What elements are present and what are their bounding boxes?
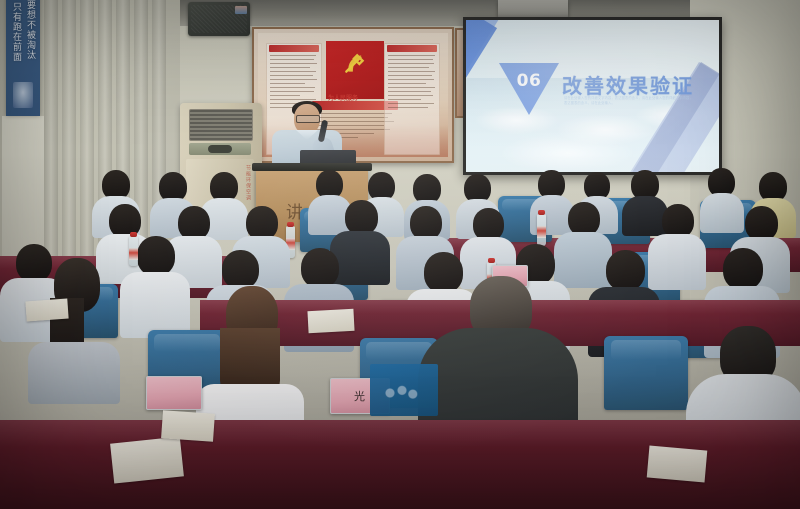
banner-line-2: 只有跑在前面 bbox=[11, 2, 22, 62]
wall-speaker-icon bbox=[188, 2, 250, 36]
attendee-head bbox=[137, 236, 175, 276]
poster-right-text bbox=[388, 55, 436, 111]
water-bottle bbox=[129, 236, 138, 266]
handout-paper bbox=[307, 309, 354, 333]
wall-column-strip bbox=[80, 0, 94, 300]
slide-haze bbox=[466, 20, 719, 172]
attendee-head bbox=[568, 202, 600, 236]
ac-display bbox=[208, 145, 232, 153]
banner-line-1: 要想不被淘汰 bbox=[25, 0, 36, 60]
board-logo-icon bbox=[380, 382, 420, 404]
handout-paper bbox=[25, 299, 68, 322]
handout-paper bbox=[647, 446, 708, 483]
presentation-slide: 06 改善效果验证 请在此处输入您的详细文字内容，表达图表的含义，请在此处输入您… bbox=[466, 20, 719, 172]
chair bbox=[604, 336, 688, 410]
meeting-room-photo: 要想不被淘汰 只有跑在前面 bbox=[0, 0, 800, 509]
wall-banner: 要想不被淘汰 只有跑在前面 bbox=[6, 0, 40, 116]
ac-vent bbox=[189, 109, 253, 141]
attendee-head bbox=[606, 250, 645, 291]
attendee-head bbox=[745, 206, 778, 241]
attendee-head bbox=[178, 206, 210, 240]
water-bottle bbox=[537, 214, 546, 246]
attendee-torso bbox=[28, 342, 120, 404]
name-placard[interactable] bbox=[146, 376, 202, 410]
hammer-sickle-icon bbox=[342, 51, 368, 77]
poster-right-header bbox=[387, 45, 437, 52]
attendee bbox=[28, 258, 120, 398]
attendee-head bbox=[246, 206, 278, 240]
poster-left-header bbox=[269, 45, 319, 52]
projection-screen: 06 改善效果验证 请在此处输入您的详细文字内容，表达图表的含义，请在此处输入您… bbox=[463, 17, 722, 175]
attendee-head bbox=[301, 248, 339, 288]
speaker-indicator bbox=[235, 6, 247, 14]
attendee-head bbox=[410, 206, 442, 240]
banner-emblem-icon bbox=[13, 82, 33, 108]
attendee-head bbox=[723, 248, 763, 290]
placard-text: 光 bbox=[354, 388, 366, 404]
attendee-head bbox=[345, 200, 378, 235]
handout-paper bbox=[110, 436, 184, 483]
handout-paper bbox=[161, 410, 215, 442]
attendee-head bbox=[662, 204, 694, 238]
presenter-glasses-icon bbox=[296, 115, 320, 123]
attendee-torso bbox=[120, 272, 190, 338]
attendee-head bbox=[222, 250, 259, 289]
poster-column-right bbox=[384, 43, 440, 155]
